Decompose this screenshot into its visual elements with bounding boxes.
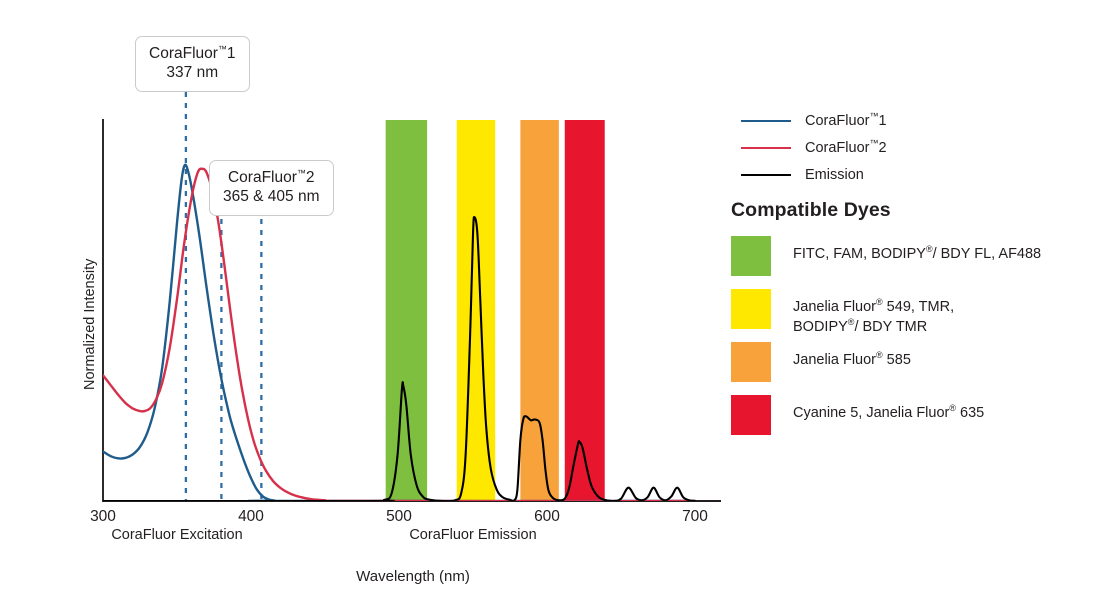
dye-label-1: Janelia Fluor® 549, TMR,BODIPY®/ BDY TMR — [793, 289, 954, 337]
figure-root: CoraFluor™1 337 nm CoraFluor™2 365 & 405… — [0, 0, 1110, 612]
dye-label-3: Cyanine 5, Janelia Fluor® 635 — [793, 395, 984, 424]
dye-color-swatch-1 — [731, 289, 771, 329]
callout-corafluor2: CoraFluor™2 365 & 405 nm — [209, 160, 334, 216]
region-label-1: CoraFluor Emission — [409, 527, 536, 543]
y-axis-title: Normalized Intensity — [82, 259, 98, 390]
legend-item-1[interactable]: CoraFluor™2 — [741, 140, 887, 156]
callout2-line1: CoraFluor™2 — [228, 169, 315, 186]
yellow-band — [457, 120, 495, 501]
dye-item-2[interactable]: Janelia Fluor® 585 — [731, 342, 911, 382]
dye-item-3[interactable]: Cyanine 5, Janelia Fluor® 635 — [731, 395, 984, 435]
legend-label-2: Emission — [805, 167, 864, 183]
legend-item-2[interactable]: Emission — [741, 167, 864, 183]
region-label-0: CoraFluor Excitation — [111, 527, 242, 543]
callout1-line2: 337 nm — [149, 63, 236, 82]
green-band — [386, 120, 427, 501]
callout1-line1: CoraFluor™1 — [149, 45, 236, 62]
legend-label-0: CoraFluor™1 — [805, 113, 887, 129]
dye-color-swatch-3 — [731, 395, 771, 435]
dye-color-swatch-2 — [731, 342, 771, 382]
x-tick-label-600: 600 — [534, 508, 560, 526]
dye-color-swatch-0 — [731, 236, 771, 276]
orange-band — [520, 120, 558, 501]
x-tick-label-700: 700 — [682, 508, 708, 526]
compatible-dyes-title: Compatible Dyes — [731, 199, 891, 222]
dye-label-0: FITC, FAM, BODIPY®/ BDY FL, AF488 — [793, 236, 1041, 265]
legend-line-swatch-2 — [741, 174, 791, 176]
legend-line-swatch-1 — [741, 147, 791, 149]
legend-line-swatch-0 — [741, 120, 791, 122]
legend-label-1: CoraFluor™2 — [805, 140, 887, 156]
legend-item-0[interactable]: CoraFluor™1 — [741, 113, 887, 129]
x-axis-title: Wavelength (nm) — [356, 568, 470, 585]
dye-item-0[interactable]: FITC, FAM, BODIPY®/ BDY FL, AF488 — [731, 236, 1041, 276]
callout-corafluor1: CoraFluor™1 337 nm — [135, 36, 250, 92]
callout2-line2: 365 & 405 nm — [223, 187, 320, 206]
x-tick-label-400: 400 — [238, 508, 264, 526]
legend-panel: CoraFluor™1CoraFluor™2Emission FITC, FAM… — [731, 0, 1110, 612]
dye-item-1[interactable]: Janelia Fluor® 549, TMR,BODIPY®/ BDY TMR — [731, 289, 954, 337]
x-tick-label-300: 300 — [90, 508, 116, 526]
x-tick-label-500: 500 — [386, 508, 412, 526]
red-band — [565, 120, 605, 501]
dye-label-2: Janelia Fluor® 585 — [793, 342, 911, 371]
